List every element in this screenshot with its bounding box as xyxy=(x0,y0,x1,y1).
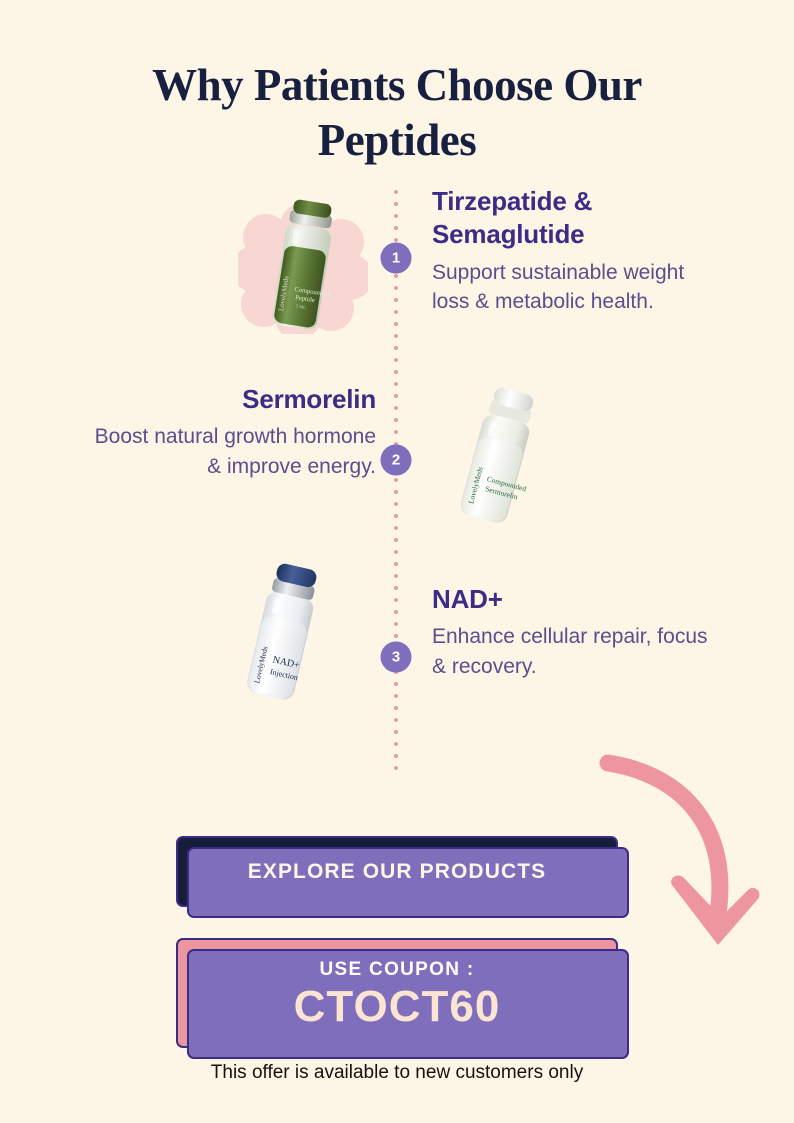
explore-products-button[interactable]: EXPLORE OUR PRODUCTS xyxy=(176,836,618,907)
step-3-description: Enhance cellular repair, focus & recover… xyxy=(432,622,722,682)
vial-2-graphic: LovelyMeds Compounded Sermorelin xyxy=(435,383,560,533)
coupon-code: CTOCT60 xyxy=(294,983,501,1031)
step-2-text-block: Sermorelin Boost natural growth hormone … xyxy=(86,383,376,482)
infographic-page: { "page": { "title": "Why Patients Choos… xyxy=(0,0,794,1123)
step-1-description: Support sustainable weight loss & metabo… xyxy=(432,258,722,318)
vial-3-graphic: LovelyMeds NAD+ Injection xyxy=(218,560,348,710)
timeline-badge-3: 3 xyxy=(381,642,412,673)
step-1-text-block: Tirzepatide & Semaglutide Support sustai… xyxy=(432,185,722,317)
vial-1-graphic: LovelyMeds Compounded Peptide 5 ML xyxy=(238,196,368,341)
explore-products-label: EXPLORE OUR PRODUCTS xyxy=(248,860,547,884)
offer-disclaimer: This offer is available to new customers… xyxy=(0,1062,794,1084)
step-3-heading: NAD+ xyxy=(432,583,722,616)
step-3-text-block: NAD+ Enhance cellular repair, focus & re… xyxy=(432,583,722,682)
step-1-heading: Tirzepatide & Semaglutide xyxy=(432,185,722,252)
cta-button-stack: EXPLORE OUR PRODUCTS USE COUPON : CTOCT6… xyxy=(176,836,618,1048)
page-title: Why Patients Choose Our Peptides xyxy=(0,58,794,168)
vial-1-image: LovelyMeds Compounded Peptide 5 ML xyxy=(238,196,368,341)
step-2-description: Boost natural growth hormone & improve e… xyxy=(86,422,376,482)
coupon-button[interactable]: USE COUPON : CTOCT60 xyxy=(176,938,618,1048)
vial-2-image: LovelyMeds Compounded Sermorelin xyxy=(435,383,560,533)
timeline-badge-2: 2 xyxy=(381,445,412,476)
step-2-heading: Sermorelin xyxy=(86,383,376,416)
timeline-dotted-line xyxy=(394,186,398,774)
coupon-label: USE COUPON : xyxy=(320,959,475,981)
timeline-badge-1: 1 xyxy=(381,243,412,274)
vial-3-image: LovelyMeds NAD+ Injection xyxy=(218,560,348,710)
